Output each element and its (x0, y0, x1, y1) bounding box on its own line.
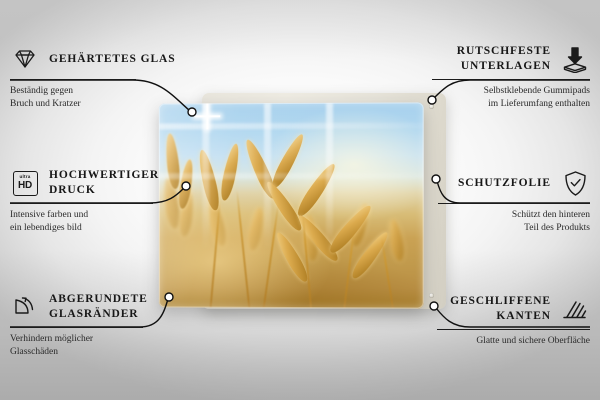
feature-description: Selbstklebende Gummipads im Lieferumfang… (404, 85, 590, 112)
rounded-corner-icon (10, 292, 40, 322)
feature-description: Intensive farben und ein lebendiges bild (10, 209, 196, 236)
hatched-edge-icon (560, 294, 590, 324)
feature-title: GEHÄRTETES GLAS (49, 52, 176, 67)
feature-divider (437, 329, 590, 330)
ultra-hd-icon-large-text: HD (18, 181, 32, 191)
feature-heading-row: GEHÄRTETES GLAS (10, 42, 196, 76)
feature-title: ABGERUNDETE GLASRÄNDER (49, 292, 196, 321)
press-down-pad-icon (560, 44, 590, 74)
feature-heading-row: ABGERUNDETE GLASRÄNDER (10, 290, 196, 324)
feature-divider (10, 79, 136, 80)
feature-polished-edges: GESCHLIFFENE KANTEN Glatte und sichere O… (404, 292, 590, 348)
feature-protective-film: SCHUTZFOLIE Schützt den hinteren Teil de… (404, 166, 590, 236)
feature-description: Schützt den hinteren Teil des Produkts (404, 209, 590, 236)
feature-heading-row: ultra HD HOCHWERTIGER DRUCK (10, 166, 196, 200)
feature-title: GESCHLIFFENE KANTEN (404, 294, 551, 323)
feature-title: SCHUTZFOLIE (458, 176, 551, 191)
feature-heading-row: RUTSCHFESTE UNTERLAGEN (404, 42, 590, 76)
feature-high-quality-print: ultra HD HOCHWERTIGER DRUCK Intensive fa… (10, 166, 196, 236)
ultra-hd-icon: ultra HD (10, 168, 40, 198)
feature-tempered-glass: GEHÄRTETES GLAS Beständig gegen Bruch un… (10, 42, 196, 112)
feature-divider (10, 203, 153, 204)
glass-panel (159, 102, 424, 308)
feature-heading-row: GESCHLIFFENE KANTEN (404, 292, 590, 326)
product-image (156, 93, 446, 311)
feature-description: Verhindern möglicher Glasschäden (10, 333, 196, 360)
feature-rounded-glass-edges: ABGERUNDETE GLASRÄNDER Verhindern möglic… (10, 290, 196, 360)
feature-title: RUTSCHFESTE UNTERLAGEN (404, 44, 551, 73)
diamond-icon (10, 44, 40, 74)
feature-divider (10, 327, 143, 328)
feature-title: HOCHWERTIGER DRUCK (49, 168, 196, 197)
infographic-canvas: GEHÄRTETES GLAS Beständig gegen Bruch un… (0, 0, 600, 400)
shield-check-icon (560, 168, 590, 198)
feature-heading-row: SCHUTZFOLIE (404, 166, 590, 200)
feature-description: Glatte und sichere Oberfläche (404, 335, 590, 348)
feature-non-slip-pads: RUTSCHFESTE UNTERLAGEN Selbstklebende Gu… (404, 42, 590, 112)
glass-edge-highlight (159, 102, 424, 308)
feature-description: Beständig gegen Bruch und Kratzer (10, 85, 196, 112)
feature-divider (432, 79, 590, 80)
feature-divider (438, 203, 590, 204)
